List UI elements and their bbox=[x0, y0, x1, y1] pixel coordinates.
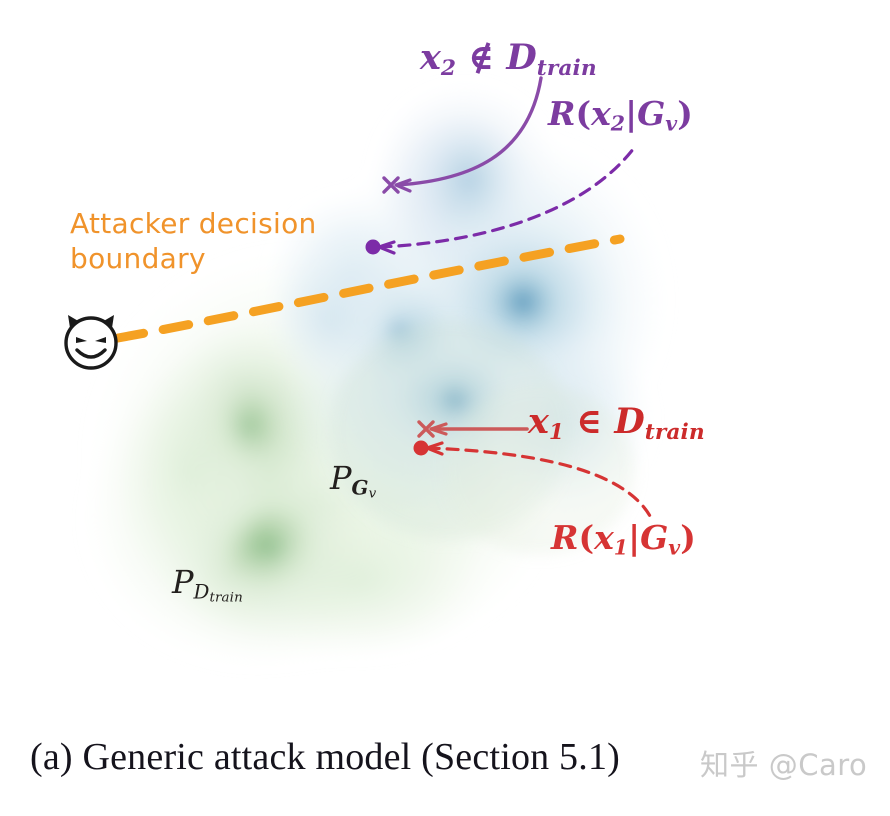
x1-subscript: 1 bbox=[549, 420, 564, 445]
x1-set-name: D bbox=[614, 401, 644, 442]
r-x2-gen-subscript: v bbox=[665, 112, 677, 136]
pd-base: P bbox=[172, 563, 194, 601]
x2-set-subscript: train bbox=[537, 56, 597, 81]
x1-set-subscript: train bbox=[645, 420, 705, 445]
devil-face-icon bbox=[58, 308, 124, 374]
r-x1-close-paren: ) bbox=[680, 518, 696, 557]
x1-dot-marker bbox=[414, 441, 429, 456]
x2-dot-marker bbox=[366, 240, 381, 255]
pg-gen-sub-subscript: v bbox=[369, 486, 377, 501]
r-x1-gen-subscript: v bbox=[668, 536, 680, 560]
x2-base: x bbox=[420, 37, 441, 78]
r-x2-cal-r: R bbox=[548, 94, 575, 133]
r-x2-gen-g: G bbox=[637, 94, 665, 133]
pd-set-subscript: D bbox=[194, 581, 210, 604]
density-contour-plot bbox=[0, 0, 890, 816]
r-x2-subscript: 2 bbox=[611, 112, 625, 136]
label-r-x1-given-gv: R(x1|Gv) bbox=[551, 521, 696, 559]
r-x2-open-paren: ( bbox=[575, 94, 591, 133]
r-x1-gen-g: G bbox=[640, 518, 668, 557]
x2-relation-symbol: ∉ bbox=[468, 37, 494, 78]
r-x1-subscript: 1 bbox=[614, 536, 628, 560]
pd-set-sub-subscript: train bbox=[210, 590, 243, 605]
label-x2-not-in-dtrain: x2 ∉ Dtrain bbox=[420, 40, 597, 81]
x1-relation-symbol: ∈ bbox=[576, 401, 602, 442]
x1-base: x bbox=[528, 401, 549, 442]
r-x2-base: x bbox=[591, 94, 611, 133]
r-x1-open-paren: ( bbox=[578, 518, 594, 557]
x2-subscript: 2 bbox=[441, 56, 456, 81]
r-x1-cal-r: R bbox=[551, 518, 578, 557]
attacker-label-line2: boundary bbox=[70, 242, 206, 275]
r-x1-base: x bbox=[594, 518, 614, 557]
figure-panel: x2 ∉ Dtrain R(x2|Gv) x1 ∈ Dtrain R(x1|Gv… bbox=[0, 0, 890, 816]
r-x2-close-paren: ) bbox=[677, 94, 693, 133]
pg-gen-subscript: G bbox=[352, 476, 369, 500]
label-r-x2-given-gv: R(x2|Gv) bbox=[548, 97, 693, 135]
label-p-dtrain: PDtrain bbox=[172, 566, 243, 605]
figure-caption: (a) Generic attack model (Section 5.1) bbox=[30, 735, 620, 779]
r-x2-bar: | bbox=[625, 94, 637, 133]
label-attacker-decision-boundary: Attacker decisionboundary bbox=[70, 206, 317, 276]
attacker-label-line1: Attacker decision bbox=[70, 207, 317, 240]
label-x1-in-dtrain: x1 ∈ Dtrain bbox=[528, 404, 705, 445]
pg-base: P bbox=[330, 459, 352, 497]
r-x1-bar: | bbox=[628, 518, 640, 557]
x2-set-name: D bbox=[506, 37, 536, 78]
label-p-gv: PGv bbox=[330, 462, 376, 501]
zhihu-watermark: 知乎 @Caro bbox=[700, 742, 867, 784]
